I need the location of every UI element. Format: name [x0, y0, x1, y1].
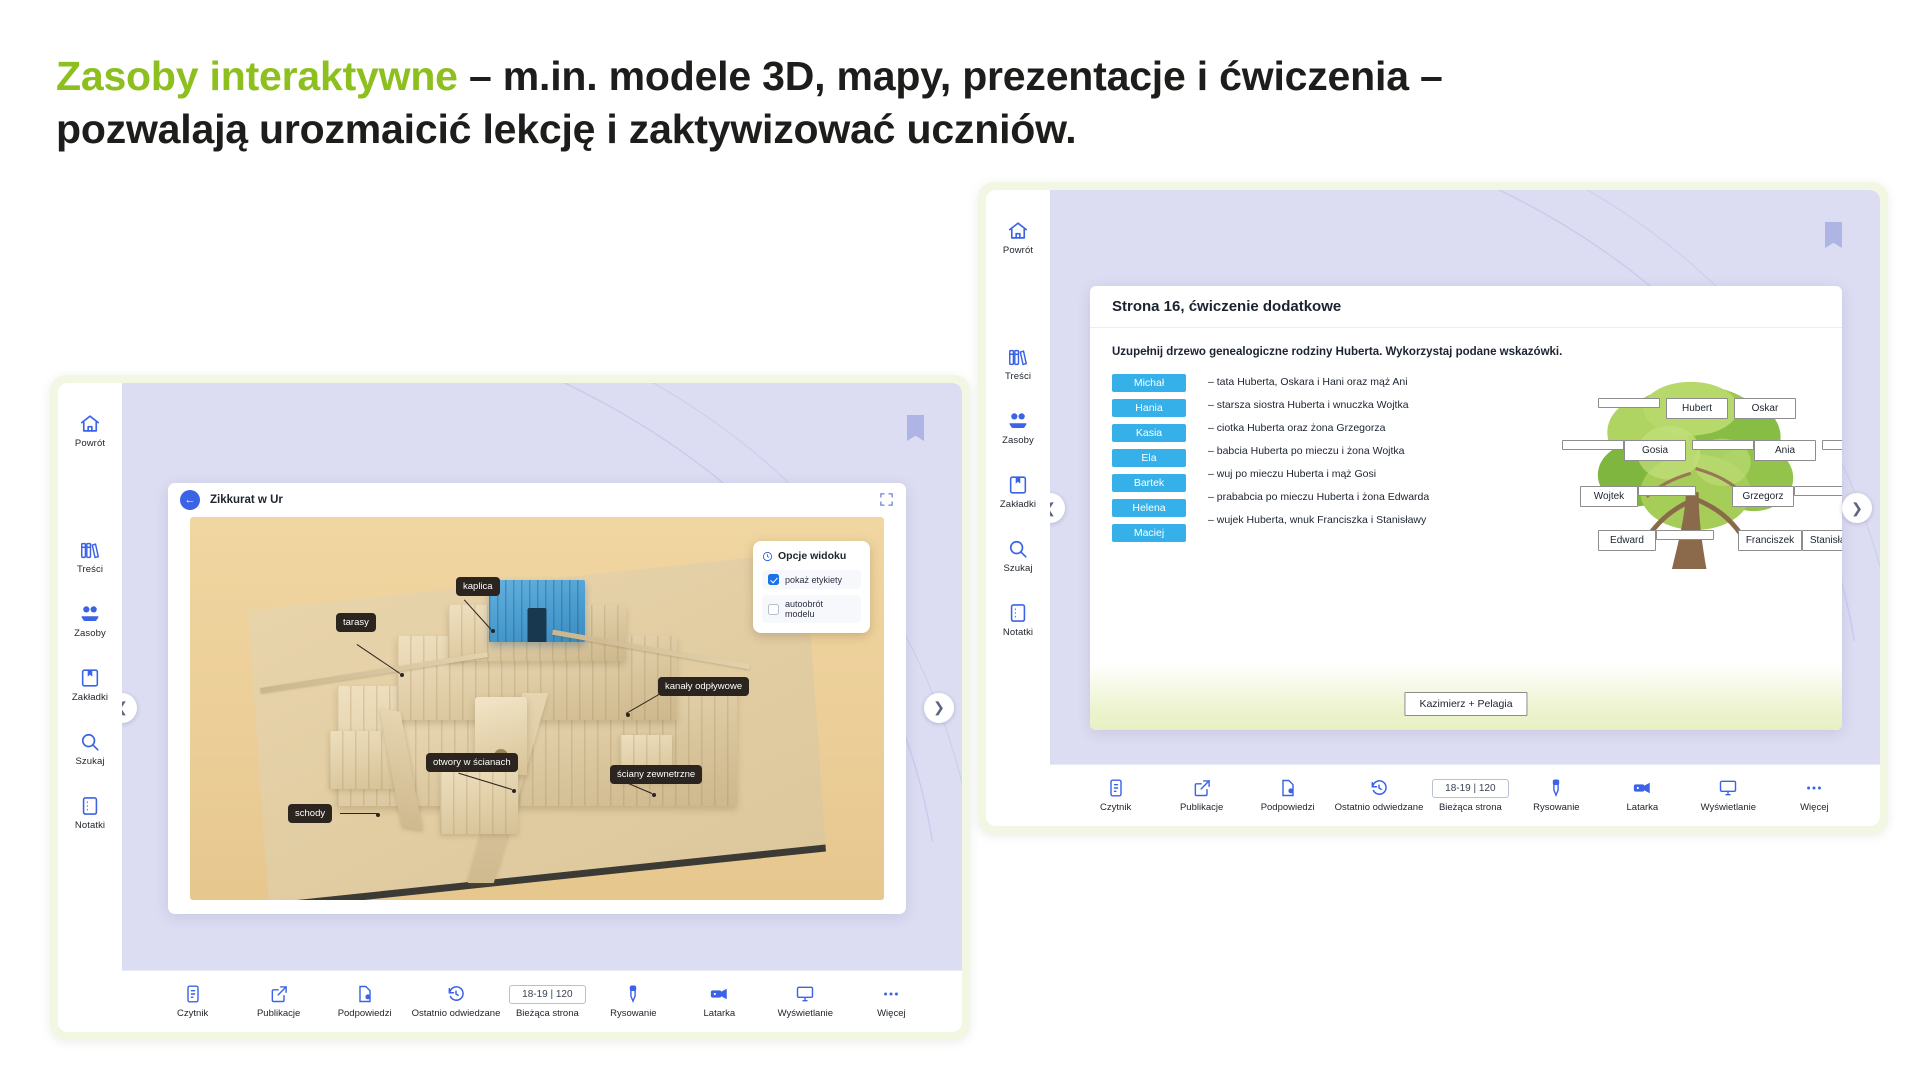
tree-box-gosia[interactable]: Gosia: [1624, 440, 1686, 461]
reader-icon: [183, 984, 203, 1004]
more-icon: [881, 984, 901, 1004]
sidebar-label: Zakładki: [72, 692, 108, 703]
model-card: ← Zikkurat w Ur: [168, 483, 906, 914]
tree-box-blank[interactable]: [1562, 440, 1624, 450]
model-dot: [652, 793, 656, 797]
checkbox-pokaz-etykiety[interactable]: [768, 574, 779, 585]
bottom-toolbar-right: Czytnik Publikacje Podpowiedzi Ostatnio …: [1050, 764, 1880, 826]
family-tree: Hubert Oskar Gosia Ania Wojtek Grzegorz: [1560, 374, 1820, 622]
toolbar-item-publikacje[interactable]: Publikacje: [1159, 778, 1245, 813]
worksheet-header: Strona 16, ćwiczenie dodatkowe: [1090, 286, 1842, 328]
name-chip[interactable]: Bartek: [1112, 474, 1186, 492]
sidebar-label: Zasoby: [74, 628, 106, 639]
tree-box-grzegorz[interactable]: Grzegorz: [1732, 486, 1794, 507]
worksheet-body: Uzupełnij drzewo genealogiczne rodziny H…: [1090, 328, 1842, 730]
viewport-right: Strona 16, ćwiczenie dodatkowe Uzupełnij…: [1050, 190, 1880, 826]
sidebar-item-szukaj[interactable]: Szukaj: [1003, 538, 1032, 574]
home-icon: [79, 413, 101, 435]
toolbar-label: Więcej: [877, 1008, 906, 1019]
books-icon: [79, 539, 101, 561]
toolbar-label: Więcej: [1800, 802, 1829, 813]
flashlight-icon: [1632, 778, 1652, 798]
toolbar-item-czytnik[interactable]: Czytnik: [1073, 778, 1159, 813]
toolbar-label: Ostatnio odwiedzane: [1335, 802, 1424, 813]
toolbar-item-rysowanie[interactable]: Rysowanie: [590, 984, 676, 1019]
toolbar-item-wiecej[interactable]: Więcej: [1771, 778, 1857, 813]
sidebar-label: Szukaj: [75, 756, 104, 767]
display-icon: [795, 984, 815, 1004]
name-chip[interactable]: Maciej: [1112, 524, 1186, 542]
model-title: Zikkurat w Ur: [210, 494, 283, 506]
tree-box-blank[interactable]: [1794, 486, 1842, 496]
page-title-rest: – m.in. modele 3D, mapy, prezentacje i ć…: [458, 53, 1443, 99]
name-chip-list: Michał Hania Kasia Ela Bartek Helena Mac…: [1112, 374, 1186, 622]
tree-box-blank[interactable]: [1656, 530, 1714, 540]
display-icon: [1718, 778, 1738, 798]
model-dot: [491, 629, 495, 633]
books-icon: [1007, 346, 1029, 368]
chevron-left-icon[interactable]: ❮: [122, 693, 137, 723]
toolbar-item-ostatnio-odwiedzane[interactable]: Ostatnio odwiedzane: [1331, 778, 1428, 813]
view-options-title: Opcje widoku: [778, 550, 846, 562]
toolbar-item-wyswietlanie[interactable]: Wyświetlanie: [762, 984, 848, 1019]
hint-item: – babcia Huberta po mieczu i żona Wojtka: [1208, 445, 1538, 457]
option-autoobrot-modelu[interactable]: autoobrót modelu: [762, 595, 861, 623]
toolbar-label: Latarka: [1627, 802, 1659, 813]
toolbar-label: Podpowiedzi: [1261, 802, 1315, 813]
toolbar-label: Podpowiedzi: [338, 1008, 392, 1019]
hint-list: – tata Huberta, Oskara i Hani oraz mąż A…: [1208, 374, 1538, 622]
checkbox-autoobrot-modelu[interactable]: [768, 604, 779, 615]
toolbar-page-indicator[interactable]: 18-19 | 120 Bieżąca strona: [1427, 779, 1513, 813]
page-title-line2: pozwalają urozmaicić lekcję i zaktywizow…: [56, 106, 1076, 152]
viewport-left: ← Zikkurat w Ur: [122, 383, 962, 1032]
tree-box-stanislawa[interactable]: Stanisława: [1802, 530, 1842, 551]
model-label-sciany: ściany zewnetrzne: [610, 765, 702, 784]
toolbar-item-rysowanie[interactable]: Rysowanie: [1513, 778, 1599, 813]
sidebar-item-tresci[interactable]: Treści: [77, 539, 103, 575]
tree-box-franciszek[interactable]: Franciszek: [1738, 530, 1802, 551]
sidebar-label: Notatki: [75, 820, 105, 831]
worksheet-instruction: Uzupełnij drzewo genealogiczne rodziny H…: [1112, 346, 1820, 358]
model-leader: [340, 813, 378, 814]
toolbar-label: Czytnik: [177, 1008, 208, 1019]
sidebar-label: Szukaj: [1003, 563, 1032, 574]
history-icon: [1369, 778, 1389, 798]
bookmark-book-icon: [79, 667, 101, 689]
pen-icon: [623, 984, 643, 1004]
option-label: autoobrót modelu: [785, 599, 855, 619]
tree-box-blank[interactable]: [1638, 486, 1696, 496]
page-value: 18-19 | 120: [1432, 779, 1508, 798]
name-chip[interactable]: Ela: [1112, 449, 1186, 467]
sidebar-item-powrot[interactable]: Powrót: [75, 413, 105, 449]
model-label-schody: schody: [288, 804, 332, 823]
model-label-tarasy: tarasy: [336, 613, 376, 632]
toolbar-item-latarka[interactable]: Latarka: [1599, 778, 1685, 813]
arrow-left-icon[interactable]: ←: [180, 490, 200, 510]
bottom-toolbar-left: Czytnik Publikacje Podpowiedzi Ostatnio …: [122, 970, 962, 1032]
pen-icon: [1546, 778, 1566, 798]
exercise-row: Michał Hania Kasia Ela Bartek Helena Mac…: [1112, 374, 1820, 622]
sidebar-item-zasoby[interactable]: Zasoby: [1002, 410, 1034, 446]
sidebar-label: Notatki: [1003, 627, 1033, 638]
sidebar-item-szukaj[interactable]: Szukaj: [75, 731, 104, 767]
chevron-left-icon[interactable]: ❮: [1050, 493, 1065, 523]
search-icon: [1007, 538, 1029, 560]
toolbar-label: Publikacje: [1180, 802, 1223, 813]
resources-icon: [79, 603, 101, 625]
tree-box-blank[interactable]: [1822, 440, 1842, 450]
flashlight-icon: [709, 984, 729, 1004]
page-title: Zasoby interaktywne – m.in. modele 3D, m…: [56, 50, 1696, 157]
toolbar-item-publikacje[interactable]: Publikacje: [236, 984, 322, 1019]
sidebar-label: Treści: [1005, 371, 1031, 382]
eye-settings-icon: [762, 551, 773, 562]
option-label: pokaż etykiety: [785, 575, 842, 585]
search-icon: [79, 731, 101, 753]
tree-box-hubert[interactable]: Hubert: [1666, 398, 1728, 419]
view-options-panel: Opcje widoku pokaż etykiety autoobrót mo…: [753, 541, 870, 633]
chevron-right-icon[interactable]: ❯: [1842, 493, 1872, 523]
sidebar-item-zasoby[interactable]: Zasoby: [74, 603, 106, 639]
resources-icon: [1007, 410, 1029, 432]
page-value: 18-19 | 120: [509, 985, 585, 1004]
sidebar-item-notatki[interactable]: Notatki: [75, 795, 105, 831]
tree-box-blank[interactable]: [1598, 398, 1660, 408]
worksheet-card: Strona 16, ćwiczenie dodatkowe Uzupełnij…: [1090, 286, 1842, 730]
hint-item: – wujek Huberta, wnuk Franciszka i Stani…: [1208, 514, 1538, 526]
toolbar-item-ostatnio-odwiedzane[interactable]: Ostatnio odwiedzane: [408, 984, 505, 1019]
more-icon: [1804, 778, 1824, 798]
hint-item: – tata Huberta, Oskara i Hani oraz mąż A…: [1208, 376, 1538, 388]
hint-item: – starsza siostra Huberta i wnuczka Wojt…: [1208, 399, 1538, 411]
option-pokaz-etykiety[interactable]: pokaż etykiety: [762, 570, 861, 589]
chevron-right-icon[interactable]: ❯: [924, 693, 954, 723]
toolbar-label: Rysowanie: [1533, 802, 1579, 813]
sidebar-label: Powrót: [75, 438, 105, 449]
toolbar-item-wiecej[interactable]: Więcej: [848, 984, 934, 1019]
name-chip[interactable]: Helena: [1112, 499, 1186, 517]
sidebar-label: Powrót: [1003, 245, 1033, 256]
sidebar-item-zakladki[interactable]: Zakładki: [72, 667, 108, 703]
notes-icon: [79, 795, 101, 817]
model-dot: [512, 789, 516, 793]
model-label-kanaly: kanały odpływowe: [658, 677, 749, 696]
sidebar-item-tresci[interactable]: Treści: [1005, 346, 1031, 382]
tree-box-blank[interactable]: [1692, 440, 1754, 450]
toolbar-item-latarka[interactable]: Latarka: [676, 984, 762, 1019]
tree-box-ania[interactable]: Ania: [1754, 440, 1816, 461]
toolbar-label: Czytnik: [1100, 802, 1131, 813]
hints-icon: [1278, 778, 1298, 798]
hints-icon: [355, 984, 375, 1004]
sidebar-label: Treści: [77, 564, 103, 575]
toolbar-item-wyswietlanie[interactable]: Wyświetlanie: [1685, 778, 1771, 813]
notes-icon: [1007, 602, 1029, 624]
sidebar-item-powrot[interactable]: Powrót: [1003, 220, 1033, 256]
hint-item: – prababcia po mieczu Huberta i żona Edw…: [1208, 491, 1538, 503]
toolbar-item-czytnik[interactable]: Czytnik: [150, 984, 236, 1019]
home-icon: [1007, 220, 1029, 242]
model-dot: [400, 673, 404, 677]
toolbar-page-indicator[interactable]: 18-19 | 120 Bieżąca strona: [504, 985, 590, 1019]
tree-box-wojtek[interactable]: Wojtek: [1580, 486, 1638, 507]
page-title-accent: Zasoby interaktywne: [56, 53, 458, 99]
toolbar-item-podpowiedzi[interactable]: Podpowiedzi: [1245, 778, 1331, 813]
sidebar-item-zakladki[interactable]: Zakładki: [1000, 474, 1036, 510]
model-dot: [626, 713, 630, 717]
name-chip[interactable]: Michał: [1112, 374, 1186, 392]
hint-item: – wuj po mieczu Huberta i mąż Gosi: [1208, 468, 1538, 480]
page-root: Zasoby interaktywne – m.in. modele 3D, m…: [0, 0, 1920, 1080]
sidebar-label: Zasoby: [1002, 435, 1034, 446]
tree-box-kazimierz-pelagia[interactable]: Kazimierz + Pelagia: [1404, 692, 1527, 716]
toolbar-label: Wyświetlanie: [778, 1008, 833, 1019]
external-link-icon: [1192, 778, 1212, 798]
history-icon: [446, 984, 466, 1004]
tablet-left: Powrót Treści Zasoby Zakładki Szukaj: [50, 375, 970, 1040]
worksheet-title: Strona 16, ćwiczenie dodatkowe: [1112, 298, 1341, 315]
tree-box-oskar[interactable]: Oskar: [1734, 398, 1796, 419]
model-label-kaplica: kaplica: [456, 577, 500, 596]
name-chip[interactable]: Kasia: [1112, 424, 1186, 442]
bookmark-icon[interactable]: [1825, 222, 1842, 248]
toolbar-label: Ostatnio odwiedzane: [412, 1008, 501, 1019]
sidebar-right: Powrót Treści Zasoby Zakładki Szukaj: [986, 190, 1050, 826]
bookmark-icon[interactable]: [907, 415, 924, 441]
sidebar-item-notatki[interactable]: Notatki: [1003, 602, 1033, 638]
toolbar-label: Publikacje: [257, 1008, 300, 1019]
view-options-title-row: Opcje widoku: [762, 550, 861, 562]
hint-item: – ciotka Huberta oraz żona Grzegorza: [1208, 422, 1538, 434]
tablet-right: Powrót Treści Zasoby Zakładki Szukaj: [978, 182, 1888, 834]
model-header: ← Zikkurat w Ur: [168, 483, 906, 517]
fullscreen-icon[interactable]: [879, 492, 894, 507]
sidebar-left: Powrót Treści Zasoby Zakładki Szukaj: [58, 383, 122, 1032]
toolbar-label: Wyświetlanie: [1701, 802, 1756, 813]
sidebar-label: Zakładki: [1000, 499, 1036, 510]
model-dot: [376, 813, 380, 817]
model-label-otwory: otwory w ścianach: [426, 753, 518, 772]
tree-box-edward[interactable]: Edward: [1598, 530, 1656, 551]
toolbar-label: Rysowanie: [610, 1008, 656, 1019]
page-label: Bieżąca strona: [516, 1008, 579, 1019]
page-label: Bieżąca strona: [1439, 802, 1502, 813]
toolbar-label: Latarka: [704, 1008, 736, 1019]
model-3d-stage[interactable]: kaplica tarasy kanały odpływowe otwory w…: [190, 517, 884, 900]
name-chip[interactable]: Hania: [1112, 399, 1186, 417]
reader-icon: [1106, 778, 1126, 798]
bookmark-book-icon: [1007, 474, 1029, 496]
external-link-icon: [269, 984, 289, 1004]
toolbar-item-podpowiedzi[interactable]: Podpowiedzi: [322, 984, 408, 1019]
